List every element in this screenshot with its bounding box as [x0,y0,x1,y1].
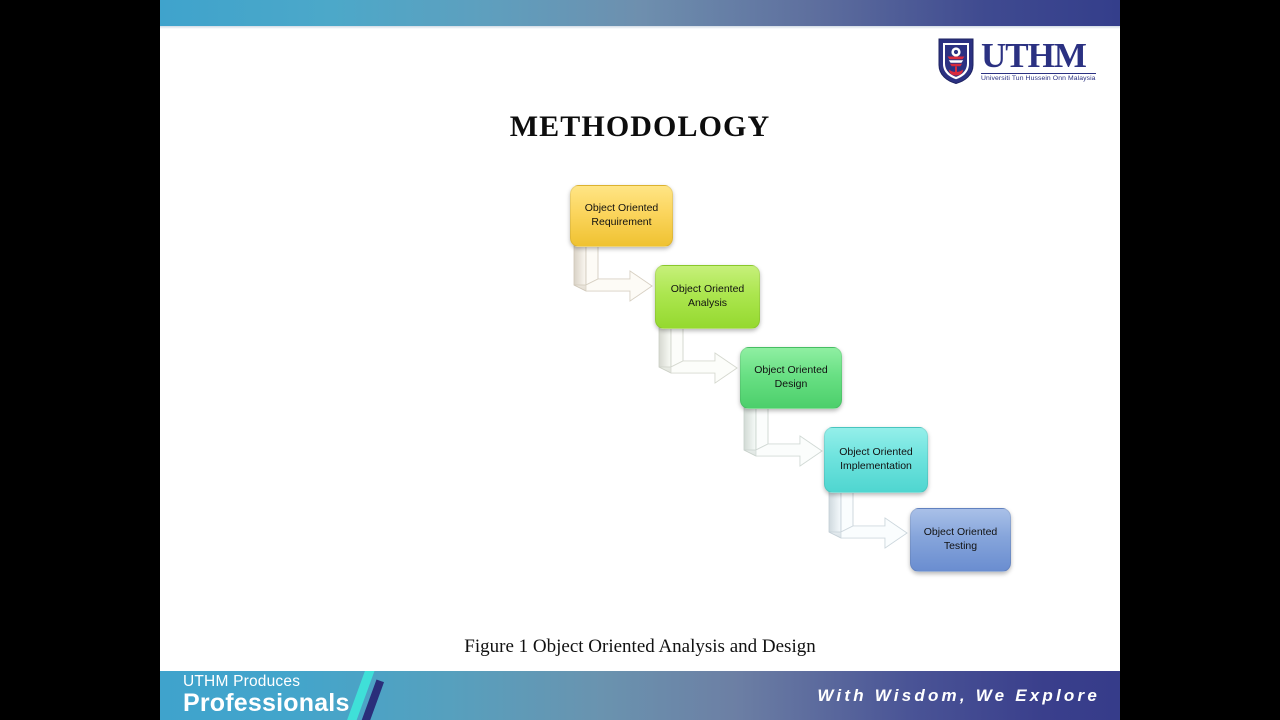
footer-tagline: UTHM Produces Professionals [183,674,350,716]
footer-bar: UTHM Produces Professionals With Wisdom,… [160,671,1120,720]
node-testing-line2: Testing [924,540,998,554]
diagram-node-implementation: Object Oriented Implementation [824,427,928,493]
presentation-slide: UTHM Universiti Tun Hussein Onn Malaysia… [160,0,1120,720]
node-analysis-line2: Analysis [671,297,745,311]
connector-arrow-design-to-implementation [736,398,832,474]
diagram-node-analysis: Object Oriented Analysis [655,265,760,329]
diagram-node-design: Object Oriented Design [740,347,842,409]
logo-wordmark: UTHM [981,40,1096,72]
node-design-line2: Design [754,378,828,392]
page-title: METHODOLOGY [160,110,1120,144]
node-testing-line1: Object Oriented [924,526,998,540]
node-implementation-line1: Object Oriented [839,446,913,460]
node-design-line1: Object Oriented [754,364,828,378]
node-analysis-line1: Object Oriented [671,283,745,297]
diagram-node-testing: Object Oriented Testing [910,508,1011,572]
footer-tagline-small: UTHM Produces [183,674,350,690]
node-requirement-line1: Object Oriented [585,202,659,216]
diagram-node-requirement: Object Oriented Requirement [570,185,673,247]
uthm-logo: UTHM Universiti Tun Hussein Onn Malaysia [936,36,1108,86]
footer-motto: With Wisdom, We Explore [817,686,1100,706]
slide-stage: UTHM Universiti Tun Hussein Onn Malaysia… [0,0,1280,720]
methodology-diagram: Object Oriented Requirement Object Orien… [400,185,900,605]
figure-caption: Figure 1 Object Oriented Analysis and De… [160,636,1120,658]
header-gradient-bar [160,0,1120,26]
footer-tagline-big: Professionals [183,691,350,716]
logo-subtitle: Universiti Tun Hussein Onn Malaysia [981,73,1096,83]
node-implementation-line2: Implementation [839,460,913,474]
shield-icon [936,37,976,85]
node-requirement-line2: Requirement [585,216,659,230]
logo-text: UTHM Universiti Tun Hussein Onn Malaysia [981,40,1096,83]
